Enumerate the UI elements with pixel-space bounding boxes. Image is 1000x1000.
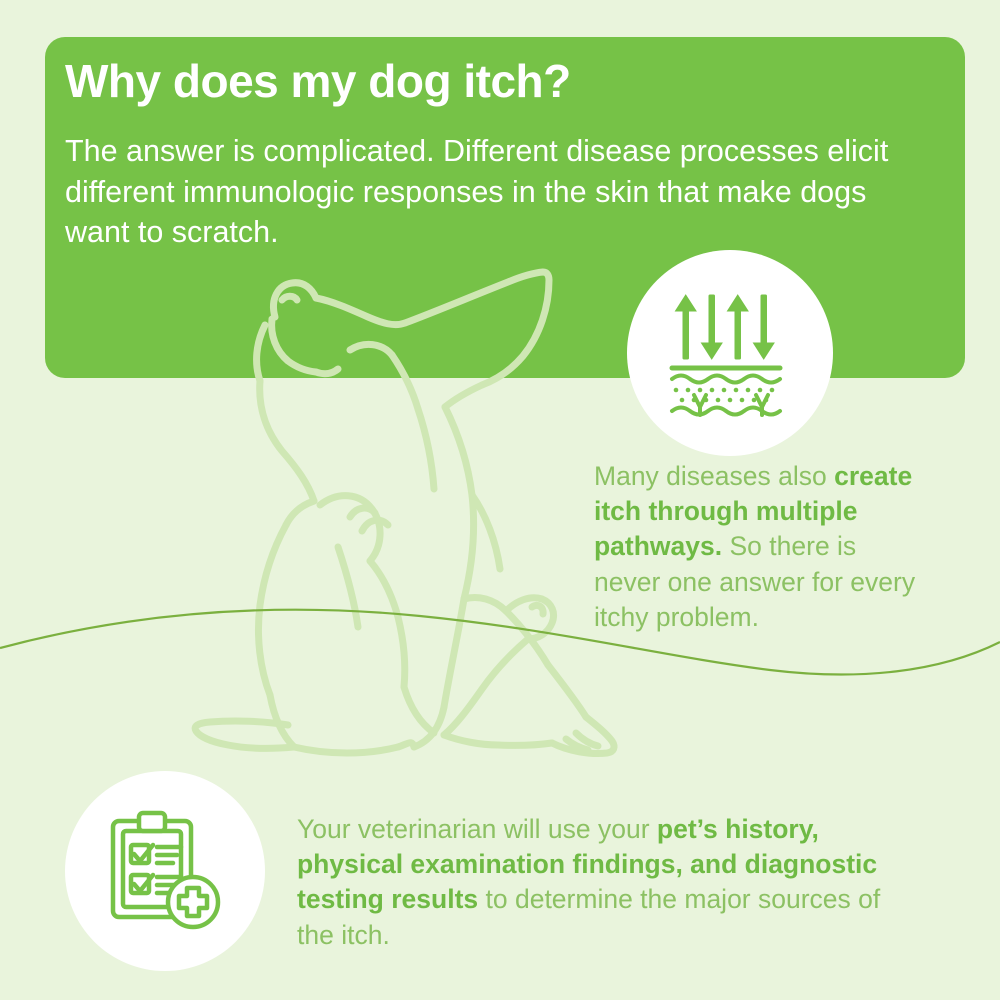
skin-icon-badge — [627, 250, 833, 456]
pathways-text: Many diseases also create itch through m… — [594, 459, 924, 635]
infographic-root: Why does my dog itch? The answer is comp… — [0, 0, 1000, 1000]
skin-layers-arrows-icon — [664, 287, 796, 419]
vet-run-0: Your veterinarian will use your — [297, 814, 657, 844]
pathways-run-0: Many diseases also — [594, 461, 834, 491]
clipboard-icon-badge — [65, 771, 265, 971]
clipboard-checklist-medical-icon — [101, 807, 229, 935]
header-description: The answer is complicated. Different dis… — [65, 131, 935, 253]
veterinarian-text: Your veterinarian will use your pet’s hi… — [297, 812, 917, 953]
page-title: Why does my dog itch? — [65, 55, 925, 108]
